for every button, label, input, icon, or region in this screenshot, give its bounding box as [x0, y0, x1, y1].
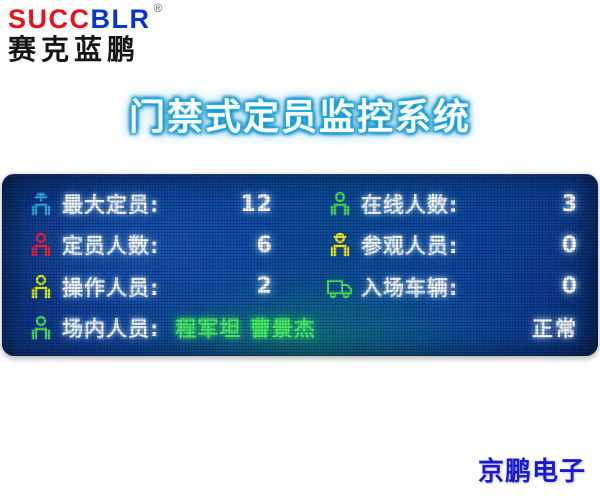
registered-trademark-icon: ®: [154, 1, 164, 15]
person-helmet-icon: [20, 191, 62, 217]
led-value: 0: [562, 274, 580, 299]
led-row: 最大定员: 12 在线人数: 3: [20, 188, 580, 220]
led-field-present-personnel: 场内人员: 程军坦 曹景杰 正常: [20, 312, 580, 344]
led-field-visitor-count: 参观人员: 0: [319, 230, 580, 260]
logo-wordmark-blr: BLR: [91, 4, 151, 34]
person-icon: [20, 232, 62, 258]
person-helmet-icon: [319, 232, 361, 258]
led-value: 3: [562, 192, 580, 217]
led-value: 2: [257, 274, 319, 299]
footer-company-name: 京鹏电子: [478, 451, 586, 488]
present-personnel-names: 程军坦 曹景杰: [175, 313, 315, 343]
led-label: 参观人员:: [361, 230, 458, 260]
person-icon: [319, 191, 361, 217]
led-label: 操作人员:: [62, 272, 159, 302]
led-field-assigned-count: 定员人数: 6: [20, 230, 319, 260]
page-title: 门禁式定员监控系统: [0, 88, 600, 140]
led-field-vehicle-count: 入场车辆: 0: [319, 272, 580, 302]
led-label: 在线人数:: [361, 189, 458, 219]
logo-wordmark: SUCCBLR®: [8, 6, 208, 33]
led-label: 定员人数:: [62, 230, 159, 260]
person-icon: [20, 315, 62, 341]
led-row: 操作人员: 2 入场车辆:: [20, 271, 580, 303]
truck-icon: [319, 275, 361, 299]
logo-chinese-name: 赛克蓝鹏: [8, 35, 208, 64]
led-label: 入场车辆:: [361, 272, 458, 302]
led-row: 定员人数: 6 参观人员:: [20, 229, 580, 261]
person-icon: [20, 274, 62, 300]
led-value: 12: [240, 192, 319, 217]
led-field-operator-count: 操作人员: 2: [20, 272, 319, 302]
led-value: 0: [562, 233, 580, 258]
status-badge: 正常: [532, 313, 580, 343]
logo-wordmark-succ: SUCC: [8, 4, 91, 34]
led-field-online-count: 在线人数: 3: [319, 189, 580, 219]
company-logo: SUCCBLR® 赛克蓝鹏: [8, 6, 208, 64]
led-content: 最大定员: 12 在线人数: 3: [20, 188, 580, 344]
led-label: 最大定员:: [62, 189, 159, 219]
slide-root: SUCCBLR® 赛克蓝鹏 门禁式定员监控系统: [0, 0, 600, 500]
led-field-max-capacity: 最大定员: 12: [20, 189, 319, 219]
led-value: 6: [257, 233, 319, 258]
led-label: 场内人员:: [62, 313, 159, 343]
led-display-panel: 最大定员: 12 在线人数: 3: [2, 174, 598, 356]
